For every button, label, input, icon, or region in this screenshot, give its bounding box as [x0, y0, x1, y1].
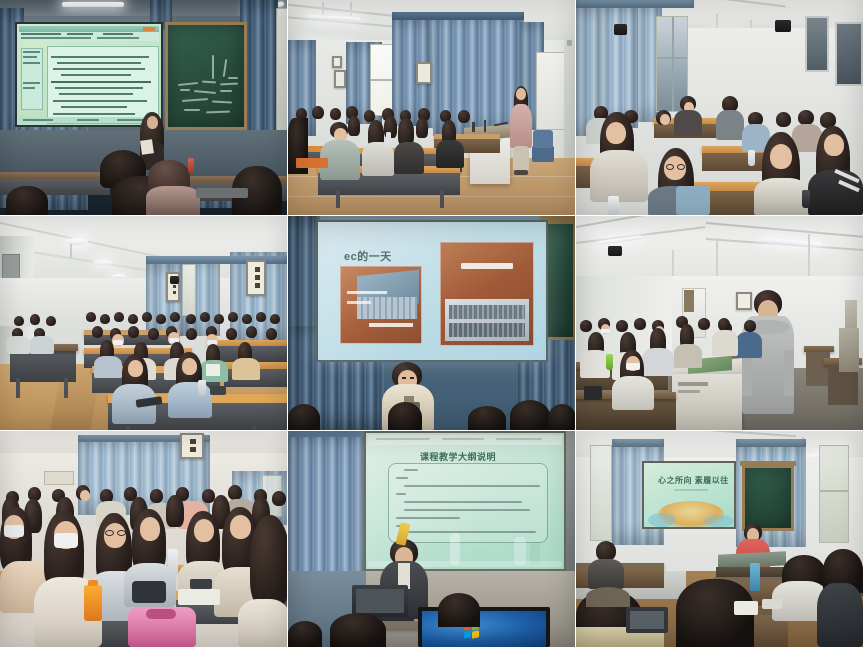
water-bottle — [84, 585, 102, 621]
grid-seam-vertical — [575, 0, 576, 647]
projection-screen: 心之所向 素履以往 — [642, 461, 736, 529]
water-bottle — [606, 354, 613, 370]
photo-tile-top-left[interactable] — [0, 0, 288, 216]
photo-collage: ec的一天 — [0, 0, 863, 647]
wall-picture — [332, 56, 342, 68]
water-bottle — [802, 190, 810, 208]
water-bottle — [168, 549, 178, 575]
photo-tile-middle-center[interactable]: ec的一天 — [288, 216, 576, 431]
wall-scroll — [246, 260, 266, 296]
chalkboard — [742, 465, 794, 531]
speaker-icon — [608, 246, 622, 256]
photo-tile-bottom-left[interactable] — [0, 431, 288, 647]
projection-screen — [15, 22, 163, 127]
person-student — [596, 541, 616, 561]
speaker-icon — [775, 20, 791, 32]
water-bottle — [608, 196, 619, 216]
wall-notice — [736, 292, 752, 310]
person-student — [250, 515, 288, 607]
photo-tile-top-right[interactable] — [576, 0, 863, 216]
chalkboard — [544, 220, 576, 340]
wall-picture — [334, 70, 346, 88]
slide-title: 心之所向 素履以往 — [658, 475, 729, 486]
slide-title: 课程教学大纲说明 — [420, 450, 496, 463]
wall-picture — [416, 62, 432, 84]
grid-seam-vertical — [287, 0, 288, 647]
water-bottle — [198, 380, 206, 396]
photo-tile-middle-right[interactable] — [576, 216, 863, 431]
grid-seam-horizontal — [0, 430, 863, 431]
photo-tile-bottom-right[interactable]: 心之所向 素履以往 — [576, 431, 863, 647]
projection-screen: ec的一天 — [316, 220, 548, 362]
speaker-icon — [170, 276, 179, 284]
chalkboard — [165, 22, 247, 130]
slide-image-left — [340, 266, 422, 344]
speaker-icon — [614, 24, 627, 35]
photo-tile-top-center[interactable] — [288, 0, 576, 216]
grid-seam-horizontal — [0, 215, 863, 216]
wall-scroll — [180, 433, 204, 459]
photo-tile-middle-left[interactable] — [0, 216, 288, 431]
slide-title: ec的一天 — [344, 248, 392, 264]
water-bottle — [748, 150, 755, 166]
photo-tile-bottom-center[interactable]: 课程教学大纲说明 — [288, 431, 576, 647]
slide-image-right — [440, 242, 534, 346]
water-bottle — [750, 563, 760, 591]
